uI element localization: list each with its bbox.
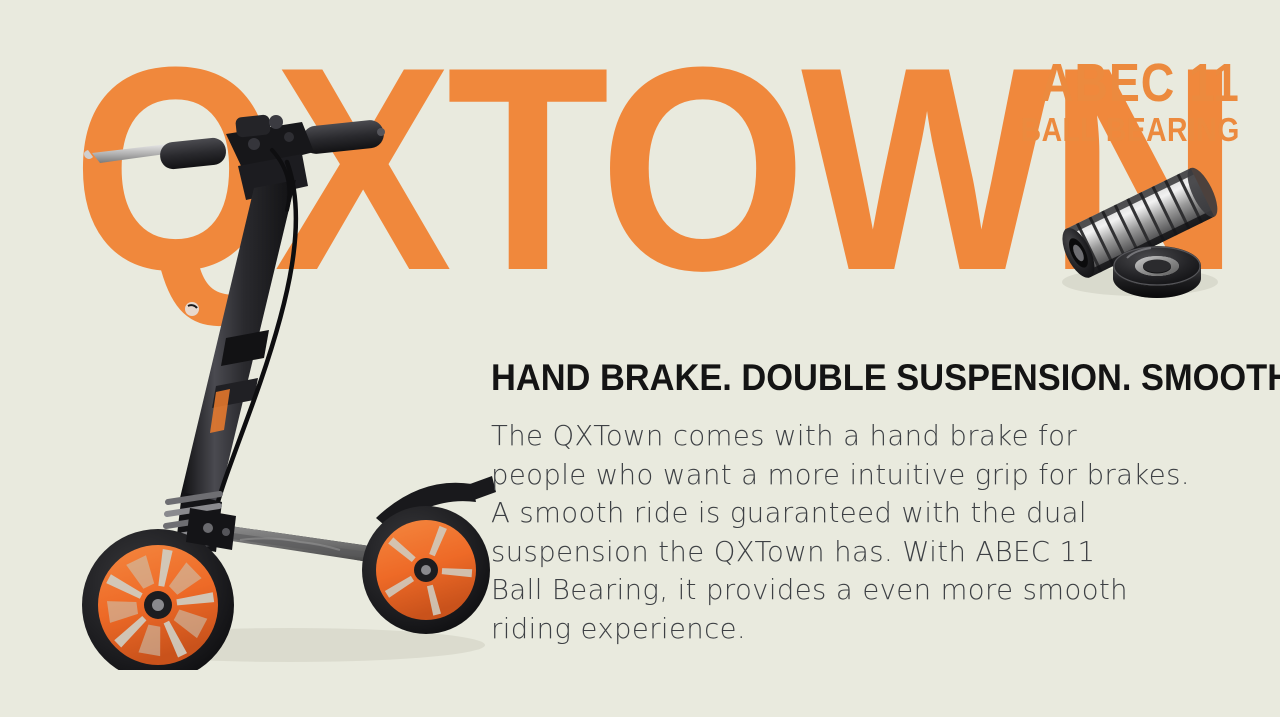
paragraph-line: Ball Bearing, it provides a even more sm… bbox=[491, 571, 1181, 610]
scooter-image bbox=[40, 100, 510, 670]
ball-bearing-image bbox=[1040, 162, 1245, 312]
paragraph-line: A smooth ride is guaranteed with the dua… bbox=[491, 494, 1181, 533]
abec-rating-label: ABEC 11 bbox=[1021, 58, 1240, 108]
paragraph-line: people who want a more intuitive grip fo… bbox=[491, 456, 1181, 495]
handlebar-assembly bbox=[84, 114, 385, 200]
feature-headline: HAND BRAKE. DOUBLE SUSPENSION. SMOOTH bbox=[491, 358, 1142, 398]
paragraph-line: The QXTown comes with a hand brake for bbox=[491, 417, 1181, 456]
copy-block: HAND BRAKE. DOUBLE SUSPENSION. SMOOTH Th… bbox=[491, 358, 1191, 648]
abec-badge: ABEC 11 BALL BEARING bbox=[985, 58, 1240, 148]
ball-bearing-label: BALL BEARING bbox=[1021, 112, 1240, 148]
single-bearing bbox=[1113, 246, 1201, 298]
paragraph-line: riding experience. bbox=[491, 610, 1181, 649]
product-poster: QXTOWN bbox=[0, 0, 1280, 717]
description-paragraph: The QXTown comes with a hand brake for p… bbox=[491, 417, 1181, 648]
paragraph-line: suspension the QXTown has. With ABEC 11 bbox=[491, 533, 1181, 572]
rear-wheel bbox=[362, 506, 490, 634]
